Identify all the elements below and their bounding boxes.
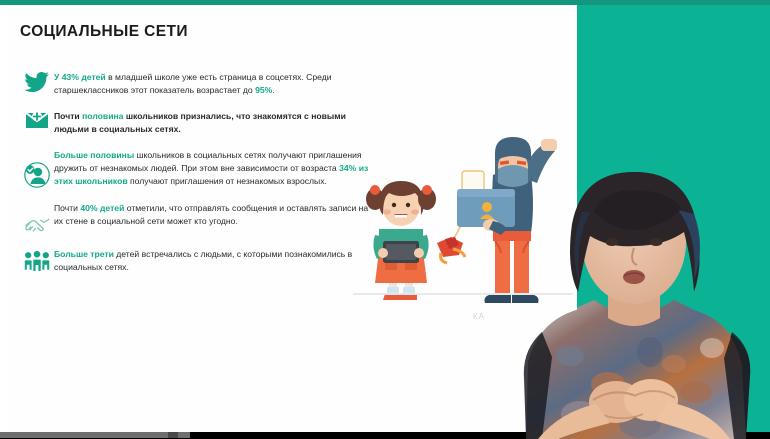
- list-item: Больше трети детей встречались с людьми,…: [20, 246, 370, 274]
- person-check-icon: [20, 147, 54, 189]
- scrollbar-thumb[interactable]: [168, 432, 178, 438]
- twitter-bird-icon: [20, 69, 54, 93]
- illustration-watermark: КА: [473, 312, 485, 321]
- list-item-text: Почти половина школьников признались, чт…: [54, 108, 370, 136]
- presenter-overlay: [498, 150, 770, 439]
- list-item: У 43% детей в младшей школе уже есть стр…: [20, 69, 370, 97]
- progress-scrollbar[interactable]: [0, 432, 190, 438]
- list-item: Больше половины школьников в социальных …: [20, 147, 370, 189]
- presentation-slide: СОЦИАЛЬНЫЕ СЕТИ: [7, 5, 577, 432]
- girl-figure: [366, 181, 436, 300]
- list-item-text: У 43% детей в младшей школе уже есть стр…: [54, 69, 370, 97]
- list-item-text: Почти 40% детей отметили, что отправлять…: [54, 200, 370, 228]
- screen: СОЦИАЛЬНЫЕ СЕТИ: [0, 0, 770, 439]
- three-people-icon: [20, 246, 54, 274]
- slide-title: СОЦИАЛЬНЫЕ СЕТИ: [20, 23, 188, 41]
- handshake-icon: [20, 200, 54, 235]
- bullet-list: У 43% детей в младшей школе уже есть стр…: [20, 69, 370, 285]
- list-item-text: Больше трети детей встречались с людьми,…: [54, 246, 370, 274]
- list-item: Почти половина школьников признались, чт…: [20, 108, 370, 136]
- list-item-text: Больше половины школьников в социальных …: [54, 147, 370, 188]
- envelope-plus-icon: [20, 108, 54, 131]
- list-item: Почти 40% детей отметили, что отправлять…: [20, 200, 370, 235]
- slide-left-margin: [0, 5, 7, 432]
